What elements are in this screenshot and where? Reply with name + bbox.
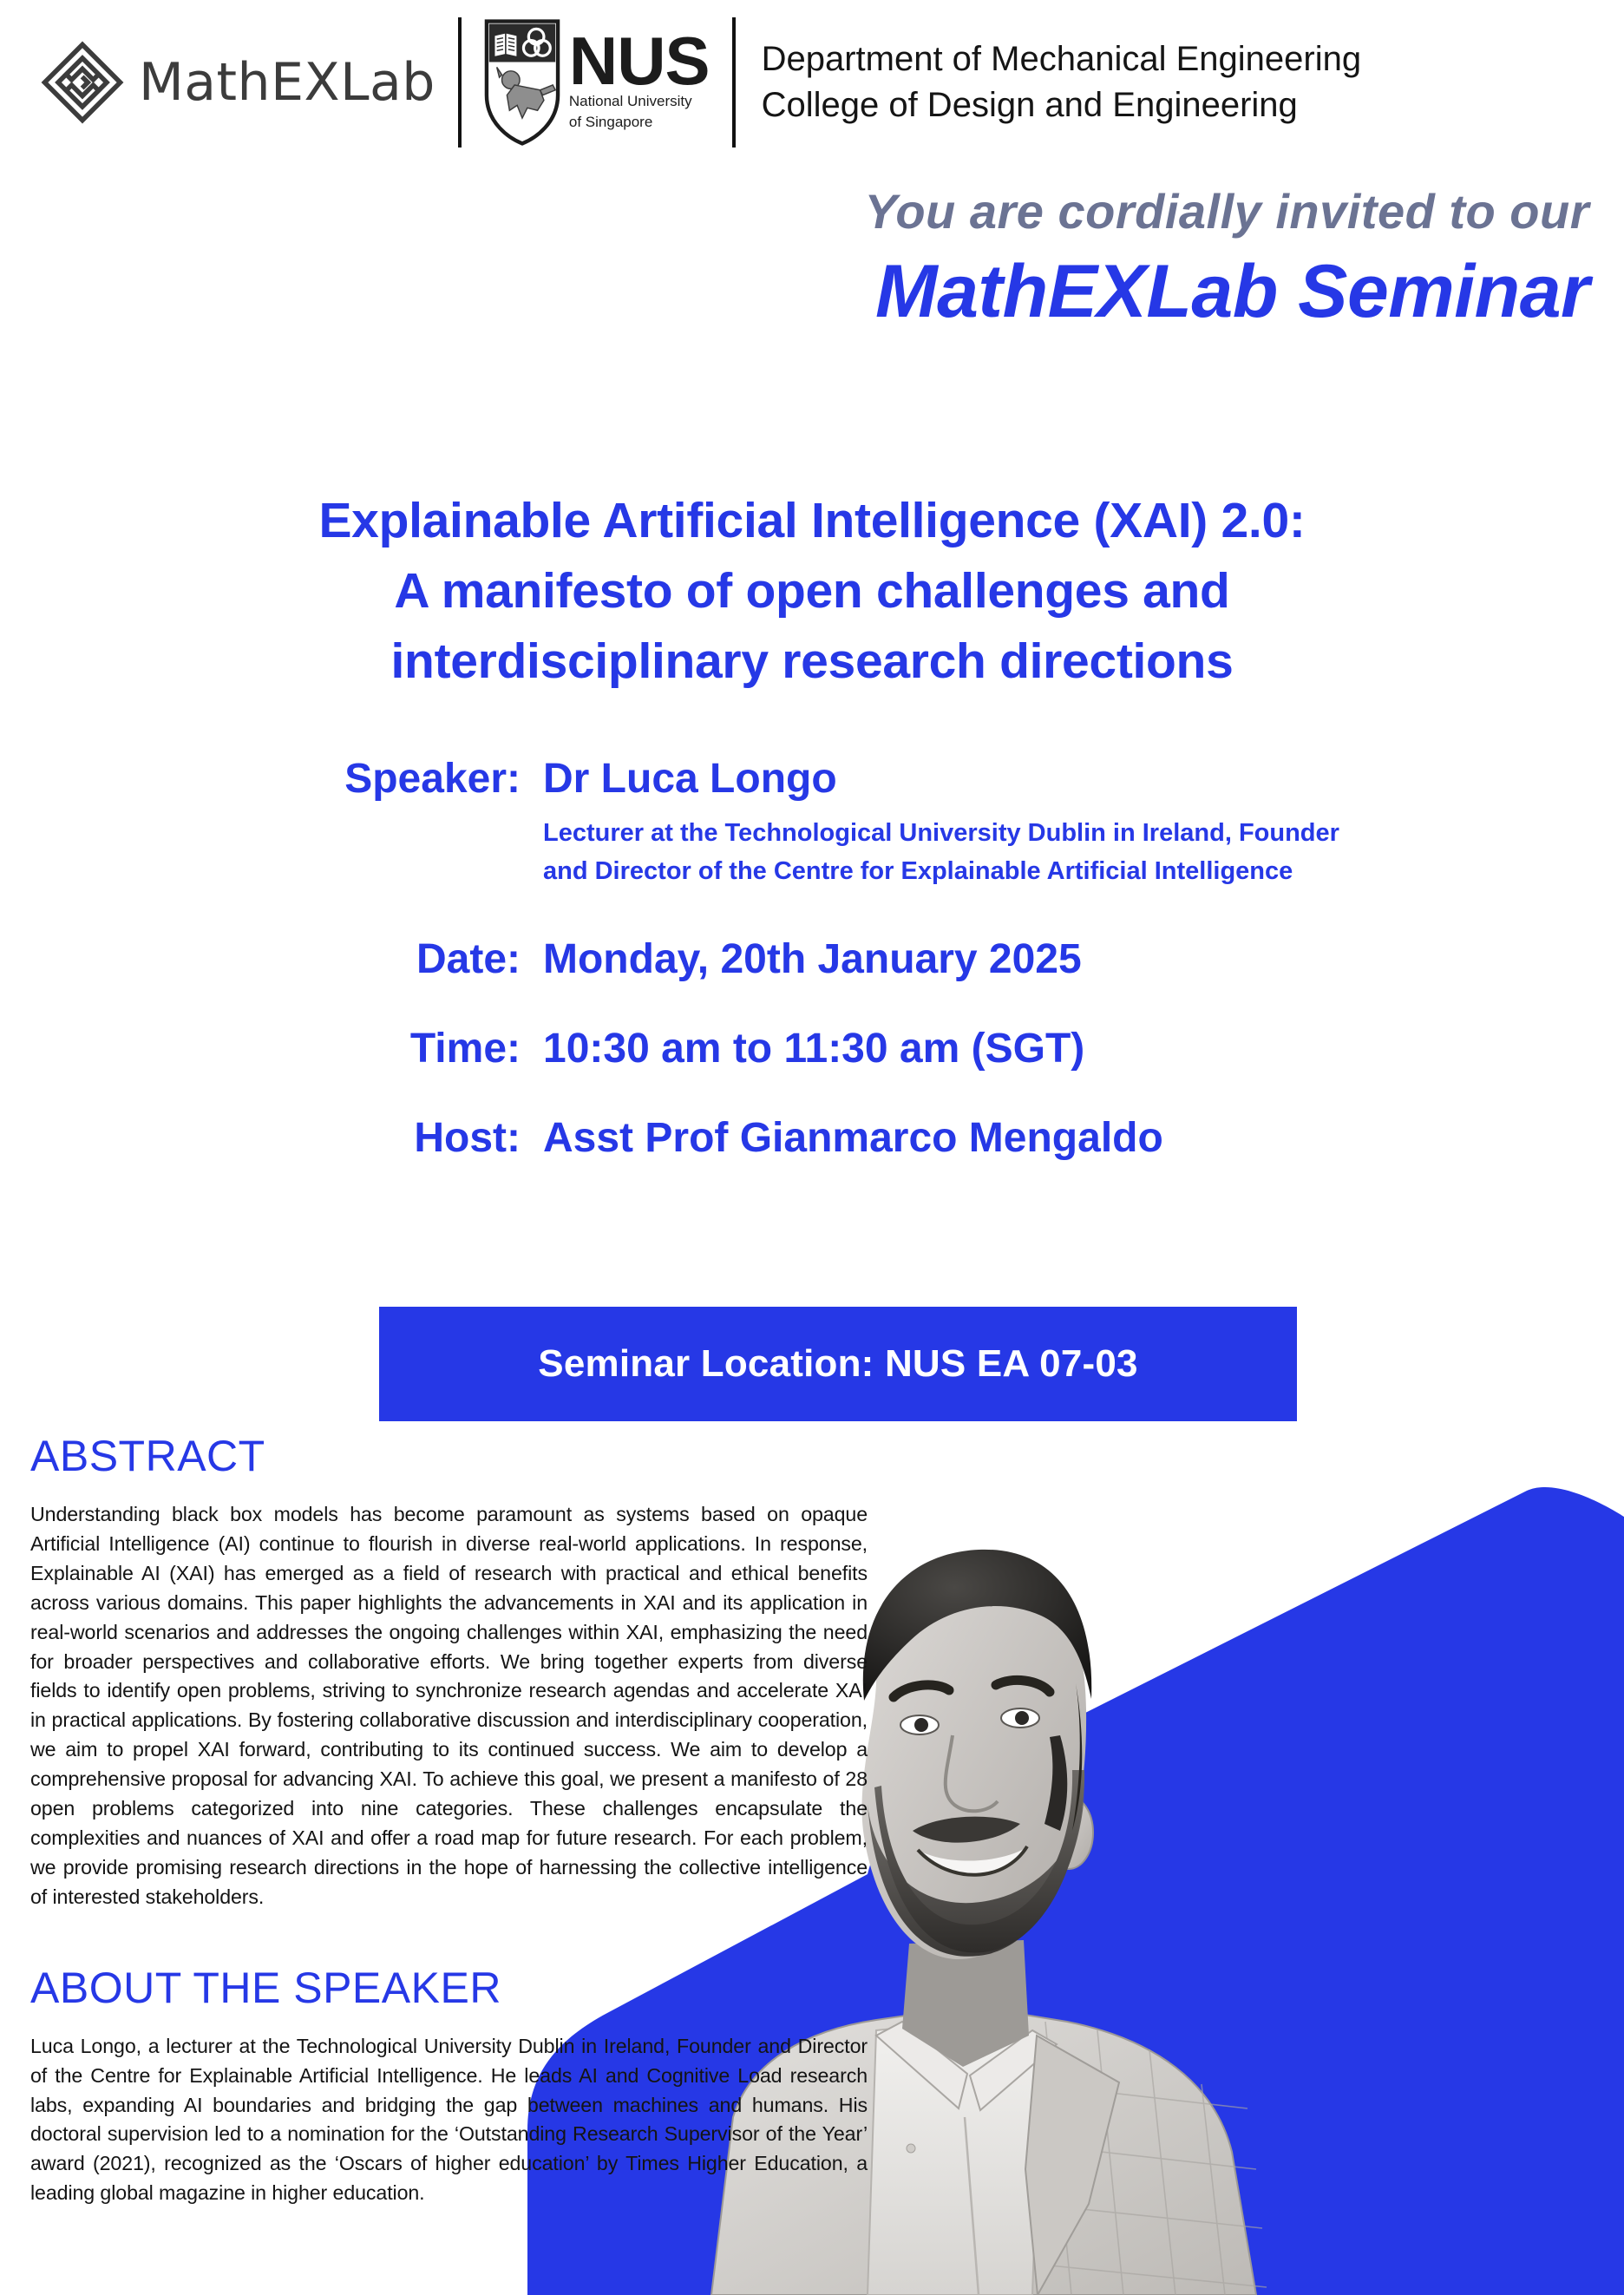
detail-row-speaker: Speaker: Dr Luca Longo (0, 755, 1624, 803)
maze-diamond-icon (35, 35, 130, 130)
seminar-details: Speaker: Dr Luca Longo Lecturer at the T… (0, 755, 1624, 1162)
detail-row-date: Date: Monday, 20th January 2025 (0, 935, 1624, 983)
detail-row-time: Time: 10:30 am to 11:30 am (SGT) (0, 1025, 1624, 1072)
section-spacer (30, 1932, 868, 1948)
speaker-affiliation-line-2: and Director of the Centre for Explainab… (543, 853, 1523, 891)
seminar-title: Explainable Artificial Intelligence (XAI… (0, 486, 1624, 697)
about-speaker-body: Luca Longo, a lecturer at the Technologi… (30, 2032, 868, 2208)
invitation-headline: MathEXLab Seminar (0, 250, 1589, 333)
host-value: Asst Prof Gianmarco Mengaldo (543, 1114, 1163, 1162)
invitation-block: You are cordially invited to our MathEXL… (0, 187, 1589, 333)
nus-fullname-line1: National University (569, 93, 710, 110)
seminar-location-text: Seminar Location: NUS EA 07-03 (538, 1342, 1137, 1386)
mathexlab-wordmark: MathEXLab (139, 52, 435, 113)
host-label: Host: (0, 1114, 543, 1162)
header-divider-1 (458, 17, 462, 148)
department-line-1: Department of Mechanical Engineering (762, 36, 1362, 82)
nus-fullname-line2: of Singapore (569, 114, 710, 131)
seminar-title-line-3: interdisciplinary research directions (0, 626, 1624, 697)
header-divider-2 (732, 17, 736, 148)
invitation-kicker: You are cordially invited to our (0, 187, 1589, 238)
nus-wordmark: NUS National University of Singapore (569, 34, 710, 130)
seminar-title-line-1: Explainable Artificial Intelligence (XAI… (0, 486, 1624, 556)
abstract-heading: ABSTRACT (30, 1432, 868, 1480)
seminar-title-line-2: A manifesto of open challenges and (0, 556, 1624, 626)
content-column: ABSTRACT Understanding black box models … (30, 1432, 868, 2228)
time-label: Time: (0, 1025, 543, 1072)
abstract-body: Understanding black box models has becom… (30, 1500, 868, 1911)
detail-row-host: Host: Asst Prof Gianmarco Mengaldo (0, 1114, 1624, 1162)
page-header: MathEXLab (0, 0, 1624, 165)
speaker-label: Speaker: (0, 755, 543, 803)
speaker-affiliation-line-1: Lecturer at the Technological University… (543, 815, 1523, 853)
seminar-location-banner: Seminar Location: NUS EA 07-03 (379, 1307, 1297, 1421)
about-speaker-heading: ABOUT THE SPEAKER (30, 1964, 868, 2012)
department-names: Department of Mechanical Engineering Col… (762, 36, 1362, 128)
date-value: Monday, 20th January 2025 (543, 935, 1082, 983)
speaker-affiliation: Lecturer at the Technological University… (543, 815, 1523, 890)
nus-crest-icon (484, 17, 560, 148)
speaker-name: Dr Luca Longo (543, 755, 837, 803)
mathexlab-logo: MathEXLab (35, 35, 435, 130)
nus-abbr: NUS (569, 34, 710, 89)
nus-logo: NUS National University of Singapore (484, 17, 710, 148)
time-value: 10:30 am to 11:30 am (SGT) (543, 1025, 1084, 1072)
department-line-2: College of Design and Engineering (762, 82, 1362, 128)
date-label: Date: (0, 935, 543, 983)
